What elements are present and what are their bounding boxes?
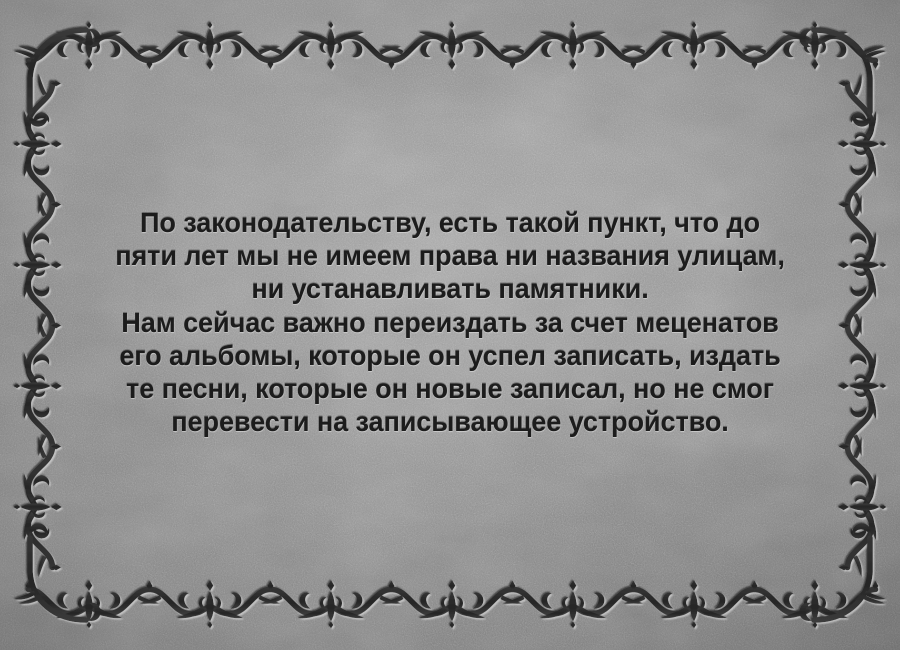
border-left (14, 74, 62, 577)
inscription-line: те песни, которые он новые записал, но н… (78, 372, 823, 405)
inscription-line: ни устанавливать памятники. (78, 272, 823, 305)
inscription-line: Нам сейчас важно переиздать за счет меце… (78, 306, 823, 339)
inscription-line: его альбомы, которые он успел записать, … (78, 339, 823, 372)
stone-plaque: По законодательству, есть такой пункт, ч… (0, 0, 900, 650)
border-top (19, 22, 885, 70)
inscription-line: По законодательству, есть такой пункт, ч… (78, 206, 823, 239)
border-bottom (19, 580, 885, 628)
inscription-text-block: По законодательству, есть такой пункт, ч… (72, 206, 828, 438)
inscription-line: перевести на записывающее устройство. (78, 405, 823, 438)
inscription-line: пяти лет мы не имеем права ни названия у… (78, 239, 823, 272)
border-right (838, 74, 886, 577)
